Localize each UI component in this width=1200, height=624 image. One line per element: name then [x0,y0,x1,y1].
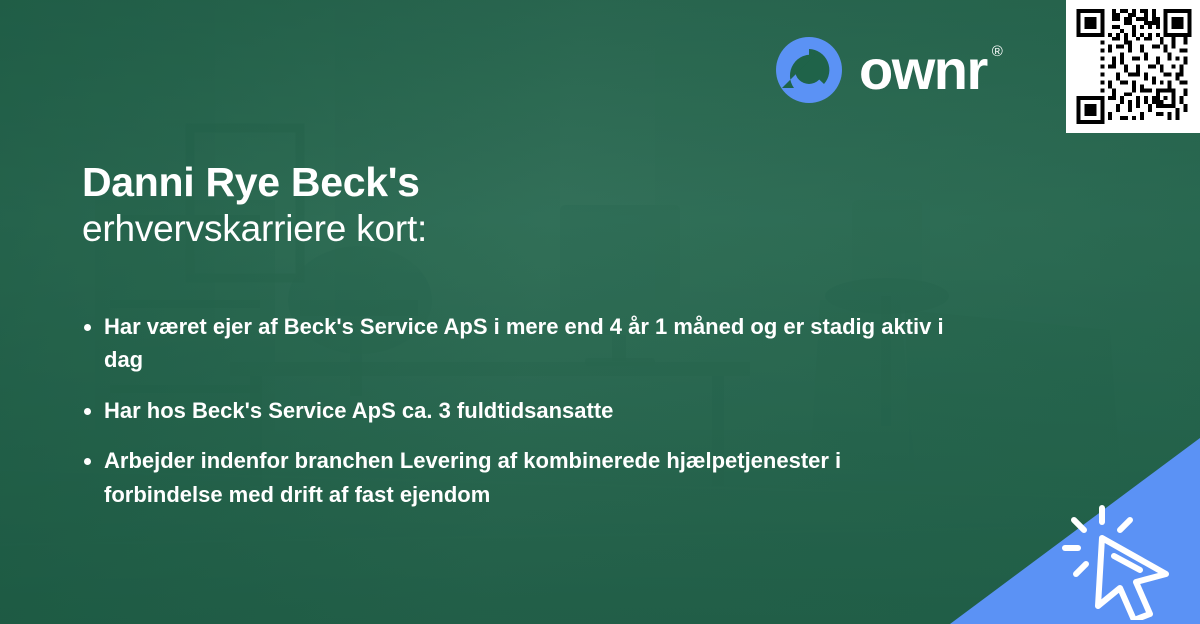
ownr-circle-swoosh-logo [775,36,843,104]
list-item: Arbejder indenfor branchen Levering af k… [82,444,962,511]
list-item: Har hos Beck's Service ApS ca. 3 fuldtid… [82,394,962,427]
list-item-text: Har hos Beck's Service ApS ca. 3 fuldtid… [104,398,613,423]
page-title: Danni Rye Beck's erhvervskarriere kort: [82,158,427,252]
brand-wordmark: ownr® [859,42,1003,98]
qr-code[interactable] [1066,0,1200,133]
bullet-icon [84,408,91,415]
bullet-icon [84,458,91,465]
headline-line-2: erhvervskarriere kort: [82,206,427,251]
brand-name: ownr [859,38,987,101]
registered-trademark-icon: ® [992,44,1003,59]
click-cursor-icon [1062,502,1186,620]
list-item-text: Arbejder indenfor branchen Levering af k… [104,448,841,506]
brand-lockup: ownr® [775,35,1003,105]
career-facts-list: Har været ejer af Beck's Service ApS i m… [82,310,1012,511]
bullet-icon [84,324,91,331]
headline-line-1: Danni Rye Beck's [82,158,427,206]
list-item-text: Har været ejer af Beck's Service ApS i m… [104,314,944,372]
list-item: Har været ejer af Beck's Service ApS i m… [82,310,962,377]
business-card: ownr® [0,0,1200,624]
